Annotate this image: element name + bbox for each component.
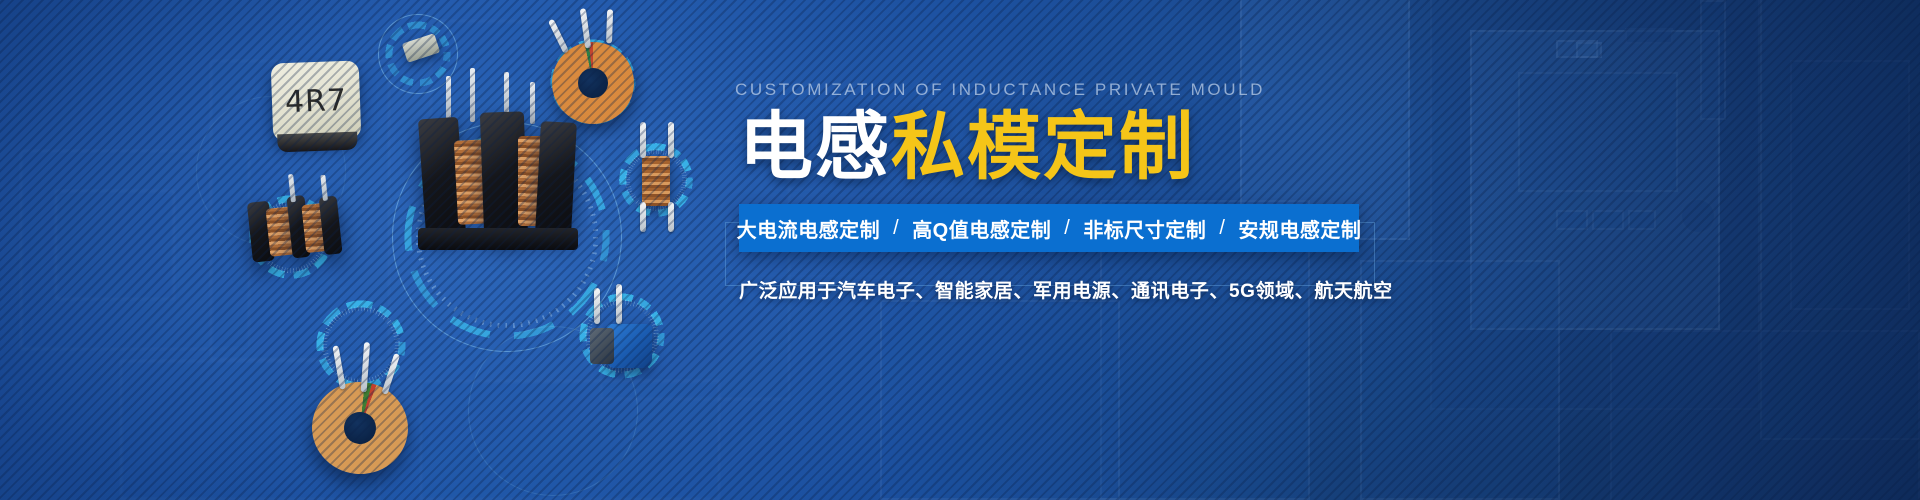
service-item-3[interactable]: 安规电感定制 — [1238, 214, 1361, 243]
service-separator: / — [880, 217, 912, 240]
services-list: 大电流电感定制 / 高Q值电感定制 / 非标尺寸定制 / 安规电感定制 — [737, 214, 1362, 243]
product-rod-core-inductor — [628, 142, 684, 228]
banner-eyebrow-english: CUSTOMIZATION OF INDUCTANCE PRIVATE MOUL… — [735, 80, 1585, 100]
product-smd-power-inductor: 4R7 — [272, 62, 360, 140]
product-common-mode-choke-cluster — [412, 112, 580, 260]
headline-white-part: 电感 — [739, 105, 891, 188]
product-blue-radial-inductor — [584, 306, 664, 386]
headline-yellow-part: 私模定制 — [891, 105, 1195, 188]
banner-description: 广泛应用于汽车电子、智能家居、军用电源、通讯电子、5G领域、航天航空 — [739, 276, 1585, 303]
page-title: 电感私模定制 — [739, 109, 1585, 184]
choke-lead — [606, 9, 613, 43]
service-item-0[interactable]: 大电流电感定制 — [737, 214, 881, 243]
banner-content: CUSTOMIZATION OF INDUCTANCE PRIVATE MOUL… — [735, 80, 1585, 303]
service-separator: / — [1051, 217, 1083, 240]
service-item-1[interactable]: 高Q值电感定制 — [912, 214, 1051, 243]
product-flat-wire-inductor — [247, 191, 346, 270]
service-separator: / — [1206, 217, 1238, 240]
service-item-2[interactable]: 非标尺寸定制 — [1083, 214, 1206, 243]
smd-inductor-code: 4R7 — [284, 82, 347, 119]
services-bar[interactable]: 大电流电感定制 / 高Q值电感定制 / 非标尺寸定制 / 安规电感定制 — [739, 204, 1359, 252]
promo-banner: 4R7 — [0, 0, 1920, 500]
